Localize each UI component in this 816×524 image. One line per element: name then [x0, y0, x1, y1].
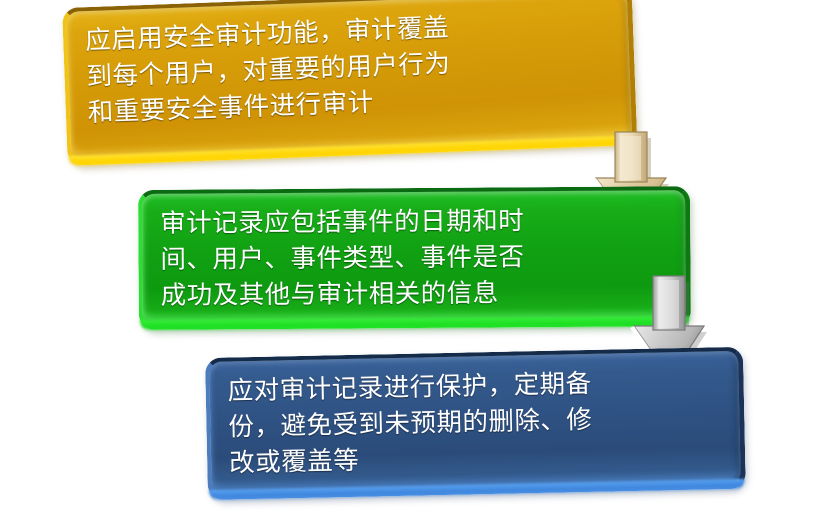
callout-box-green[interactable]: 审计记录应包括事件的日期和时 间、用户、事件类型、事件是否 成功及其他与审计相关…	[138, 186, 691, 330]
callout-box-gold[interactable]: 应启用安全审计功能，审计覆盖 到每个用户，对重要的用户行为 和重要安全事件进行审…	[62, 0, 637, 166]
callout-text-gold: 应启用安全审计功能，审计覆盖 到每个用户，对重要的用户行为 和重要安全事件进行审…	[85, 10, 453, 131]
callout-text-blue: 应对审计记录进行保护，定期备 份，避免受到未预期的删除、修 改或覆盖等	[227, 366, 593, 482]
callout-box-blue[interactable]: 应对审计记录进行保护，定期备 份，避免受到未预期的删除、修 改或覆盖等	[205, 347, 746, 500]
callout-text-green: 审计记录应包括事件的日期和时 间、用户、事件类型、事件是否 成功及其他与审计相关…	[160, 203, 525, 314]
slide-canvas: 应启用安全审计功能，审计覆盖 到每个用户，对重要的用户行为 和重要安全事件进行审…	[0, 0, 816, 524]
